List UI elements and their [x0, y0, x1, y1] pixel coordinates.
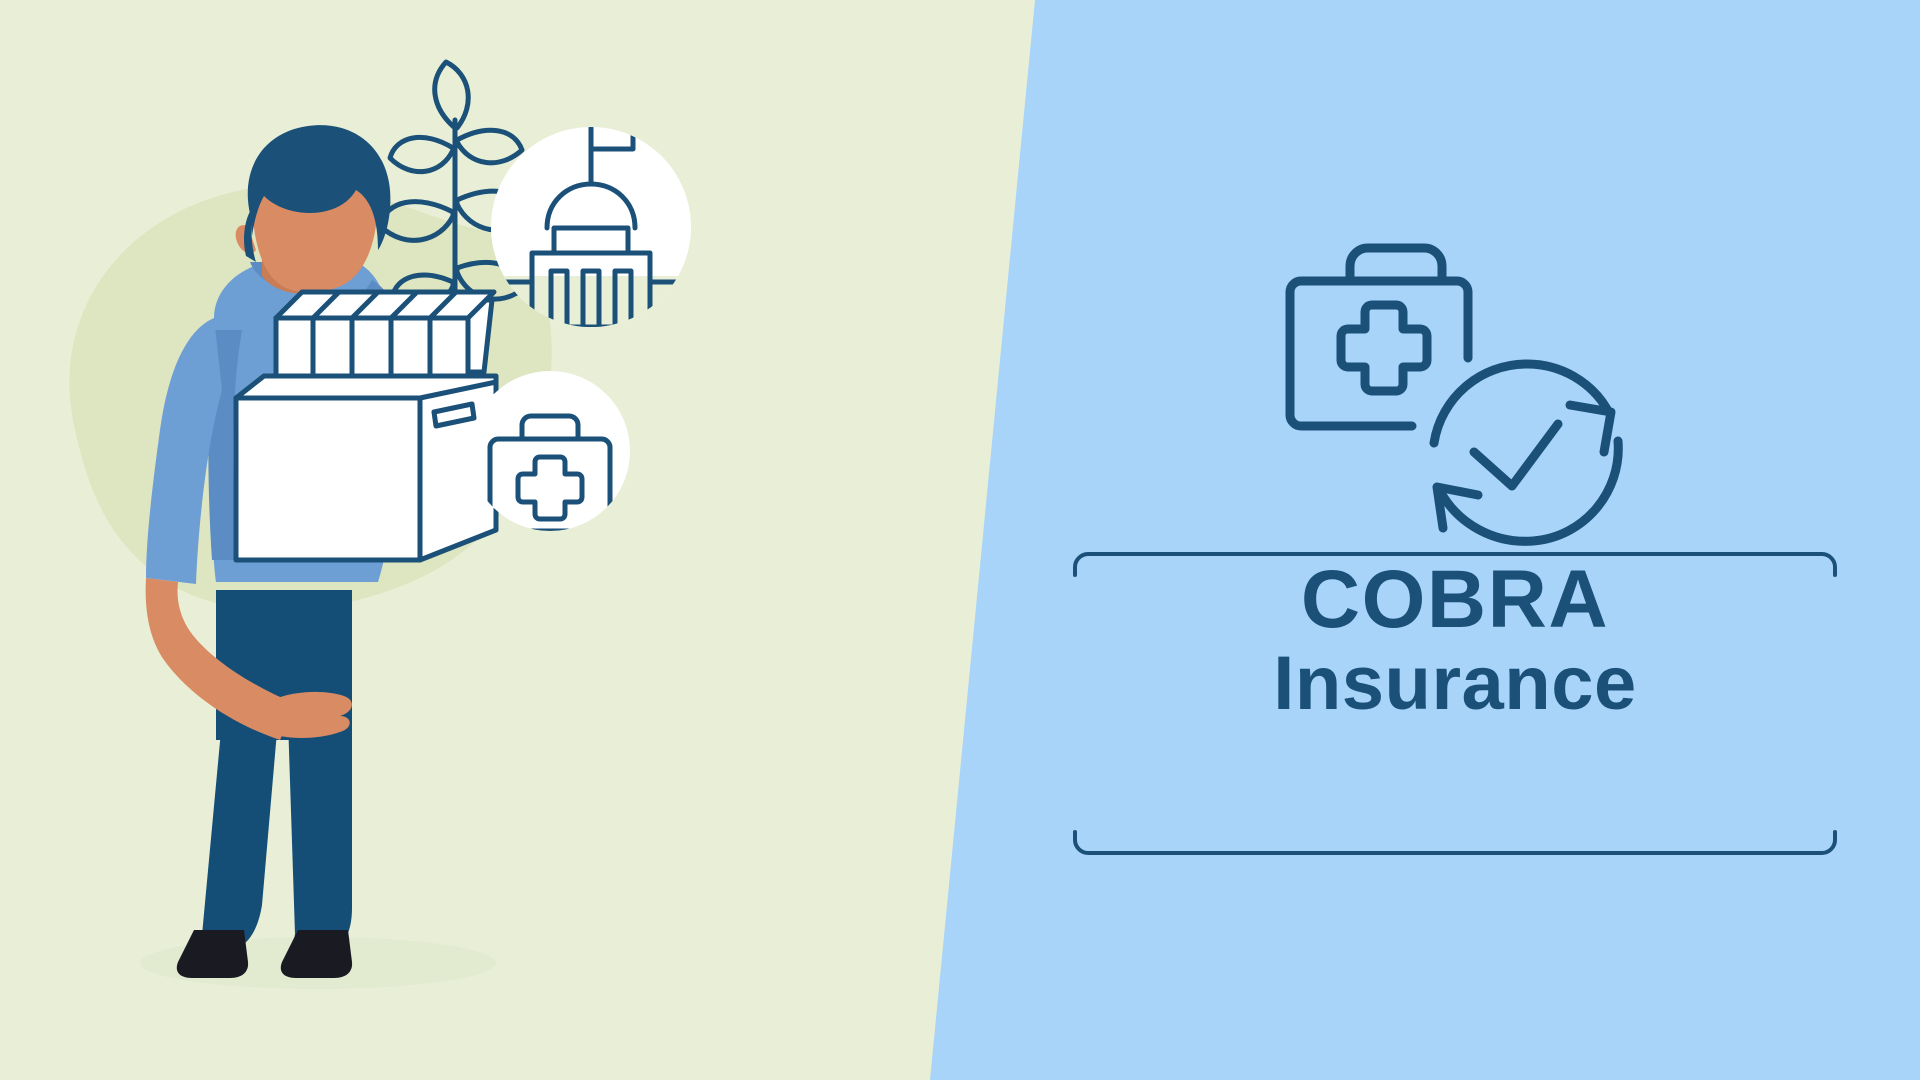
medical-briefcase-badge	[470, 371, 630, 531]
poster-artwork	[0, 0, 1920, 1080]
medkit-icon-circle	[470, 371, 630, 531]
folders-top-face	[276, 292, 494, 318]
poster-canvas: COBRA Insurance	[0, 0, 1920, 1080]
right-background	[930, 0, 1920, 1080]
leg-front	[288, 720, 352, 948]
cardboard-box	[236, 376, 496, 560]
box-front	[236, 398, 420, 560]
hand-left	[268, 692, 352, 738]
